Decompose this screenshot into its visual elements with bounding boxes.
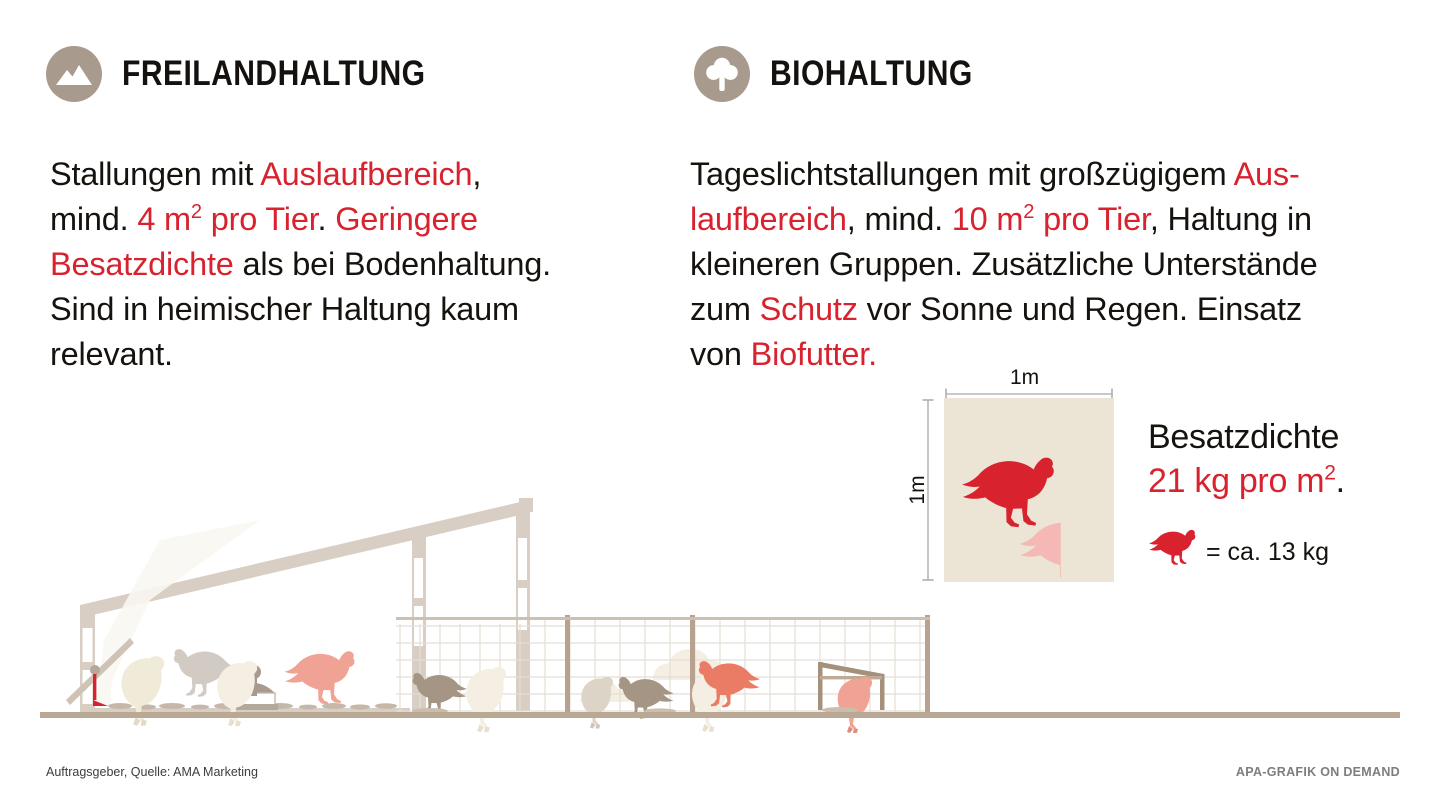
farm-illustration [0, 480, 1440, 740]
turkey-doorway-2 [466, 667, 506, 732]
paragraph-biohaltung: Tageslichtstallungen mit großzügigem Aus… [690, 152, 1410, 377]
paragraph-line: kleineren Gruppen. Zusätzliche Unterstän… [690, 242, 1410, 287]
paragraph-line: Tageslichtstallungen mit großzügigem Aus… [690, 152, 1410, 197]
infographic-canvas: FREILANDHALTUNG BIOHALTUNG Stallungen mi… [0, 0, 1440, 810]
mountain-icon [46, 46, 102, 102]
paragraph-line: zum Schutz vor Sonne und Regen. Einsatz [690, 287, 1410, 332]
paragraph-line: Besatzdichte als bei Bodenhaltung. [50, 242, 670, 287]
footer-branding: APA-GRAFIK ON DEMAND [1236, 765, 1400, 779]
paragraph-line: laufbereich, mind. 10 m2 pro Tier, Haltu… [690, 197, 1410, 242]
turkey-run-5 [838, 677, 872, 733]
paragraph-freilandhaltung: Stallungen mit Auslaufbereich,mind. 4 m2… [50, 152, 670, 377]
section-title-freilandhaltung: FREILANDHALTUNG [122, 54, 426, 94]
paragraph-line: mind. 4 m2 pro Tier. Geringere [50, 197, 670, 242]
section-title-biohaltung: BIOHALTUNG [770, 54, 973, 94]
fence-post-3 [925, 615, 930, 712]
paragraph-line: Stallungen mit Auslaufbereich, [50, 152, 670, 197]
ground-line [40, 712, 1400, 718]
tree-icon [694, 46, 750, 102]
fence-post-1 [565, 615, 570, 712]
paragraph-line: von Biofutter. [690, 332, 1410, 377]
paragraph-line: Sind in heimischer Haltung kaum [50, 287, 670, 332]
turkey-run-1 [581, 677, 613, 729]
paragraph-line: relevant. [50, 332, 670, 377]
section-header-biohaltung: BIOHALTUNG [694, 46, 1006, 102]
section-header-freilandhaltung: FREILANDHALTUNG [46, 46, 475, 102]
legend-title: Besatzdichte [1148, 418, 1339, 457]
dimension-label-width: 1m [1010, 366, 1039, 390]
footer-source: Auftragsgeber, Quelle: AMA Marketing [46, 765, 258, 779]
